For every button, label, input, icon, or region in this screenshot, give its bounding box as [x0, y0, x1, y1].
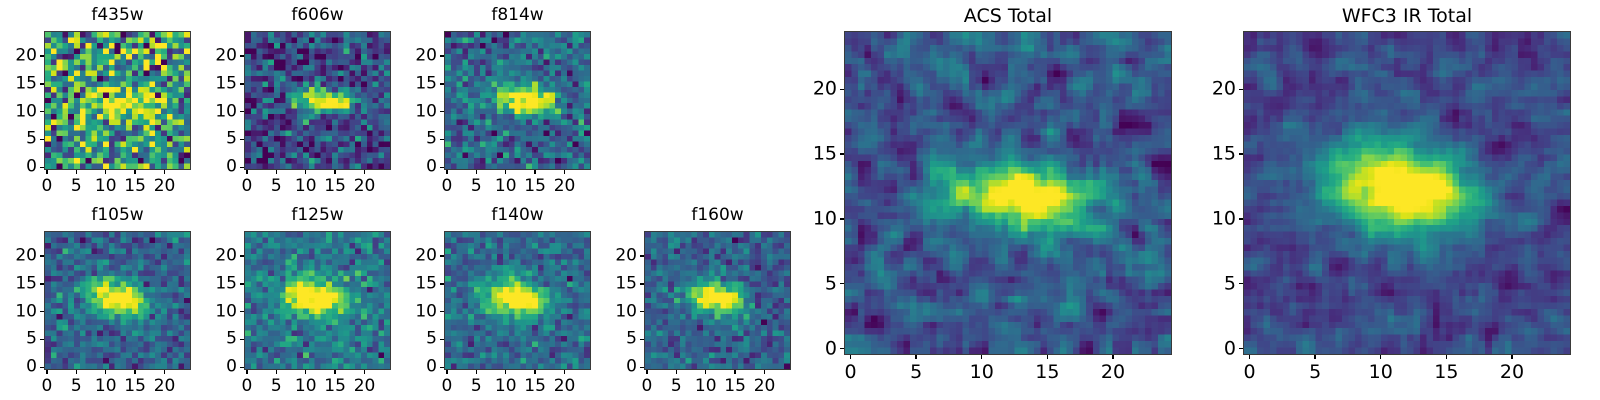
y-tick-label-f105w-10: 10: [15, 303, 37, 320]
y-tick-label-f105w-0: 0: [26, 359, 37, 376]
y-tick-label-f125w-15: 15: [215, 275, 237, 292]
y-tick-label-f814w-10: 10: [415, 103, 437, 120]
y-tick-label-f140w-15: 15: [415, 275, 437, 292]
figure-canvas: f435w0510152005101520f606w05101520051015…: [0, 0, 1600, 400]
x-tick-acs_total-5: [915, 355, 916, 359]
panel-f435w: f435w0510152005101520: [10, 5, 197, 200]
panel-acs_total: ACS Total0510152005101520: [798, 5, 1176, 385]
panel-title-acs_total: ACS Total: [844, 5, 1172, 27]
y-tick-wfc3_ir_total-10: [1239, 218, 1243, 219]
x-tick-f105w-10: [105, 370, 106, 374]
x-tick-f435w-5: [76, 170, 77, 174]
y-tick-f125w-20: [240, 255, 244, 256]
x-tick-label-f160w-15: 15: [724, 378, 746, 395]
heatmap-f140w: [444, 231, 591, 370]
x-tick-f814w-20: [564, 170, 565, 174]
x-tick-wfc3_ir_total-5: [1314, 355, 1315, 359]
y-tick-label-f814w-0: 0: [426, 159, 437, 176]
y-tick-acs_total-5: [840, 283, 844, 284]
x-tick-label-f435w-15: 15: [124, 178, 146, 195]
x-tick-label-f105w-10: 10: [95, 378, 117, 395]
x-tick-f814w-15: [534, 170, 535, 174]
x-tick-label-acs_total-15: 15: [1035, 363, 1059, 382]
x-tick-label-f814w-20: 20: [554, 178, 576, 195]
x-tick-label-f606w-20: 20: [354, 178, 376, 195]
y-tick-f125w-15: [240, 283, 244, 284]
y-tick-f435w-0: [40, 167, 44, 168]
y-tick-acs_total-15: [840, 153, 844, 154]
x-tick-label-wfc3_ir_total-5: 5: [1309, 363, 1321, 382]
y-tick-label-f160w-15: 15: [615, 275, 637, 292]
x-tick-f160w-20: [764, 370, 765, 374]
panel-title-wfc3_ir_total: WFC3 IR Total: [1243, 5, 1571, 27]
y-tick-f606w-5: [240, 139, 244, 140]
y-tick-label-wfc3_ir_total-5: 5: [1224, 274, 1236, 293]
x-tick-label-f140w-10: 10: [495, 378, 517, 395]
y-tick-f160w-5: [640, 339, 644, 340]
y-tick-f140w-10: [440, 311, 444, 312]
x-tick-label-f814w-5: 5: [471, 178, 482, 195]
y-tick-label-f435w-15: 15: [15, 75, 37, 92]
y-tick-wfc3_ir_total-0: [1239, 348, 1243, 349]
x-tick-acs_total-15: [1047, 355, 1048, 359]
heatmap-f125w: [244, 231, 391, 370]
x-tick-f105w-5: [76, 370, 77, 374]
x-tick-label-acs_total-20: 20: [1101, 363, 1125, 382]
y-tick-label-f140w-10: 10: [415, 303, 437, 320]
panel-f606w: f606w0510152005101520: [210, 5, 397, 200]
y-tick-f125w-5: [240, 339, 244, 340]
panel-f814w: f814w0510152005101520: [410, 5, 597, 200]
x-tick-f814w-10: [505, 170, 506, 174]
x-tick-label-f435w-10: 10: [95, 178, 117, 195]
y-tick-label-f125w-0: 0: [226, 359, 237, 376]
y-tick-f140w-15: [440, 283, 444, 284]
y-tick-f814w-5: [440, 139, 444, 140]
x-tick-f140w-20: [564, 370, 565, 374]
x-tick-label-f125w-0: 0: [242, 378, 253, 395]
y-tick-f125w-10: [240, 311, 244, 312]
y-tick-label-f125w-5: 5: [226, 331, 237, 348]
y-tick-label-f160w-5: 5: [626, 331, 637, 348]
y-tick-label-wfc3_ir_total-20: 20: [1212, 80, 1236, 99]
y-tick-acs_total-10: [840, 218, 844, 219]
y-tick-label-f435w-0: 0: [26, 159, 37, 176]
y-tick-f140w-20: [440, 255, 444, 256]
y-tick-label-f160w-20: 20: [615, 248, 637, 265]
x-tick-acs_total-10: [981, 355, 982, 359]
heatmap-acs_total: [844, 31, 1172, 355]
y-tick-f435w-15: [40, 83, 44, 84]
x-tick-label-f125w-10: 10: [295, 378, 317, 395]
y-tick-f160w-20: [640, 255, 644, 256]
x-tick-f105w-15: [134, 370, 135, 374]
y-tick-label-f606w-10: 10: [215, 103, 237, 120]
y-tick-label-acs_total-5: 5: [825, 274, 837, 293]
y-tick-f105w-0: [40, 367, 44, 368]
y-tick-f105w-15: [40, 283, 44, 284]
x-tick-label-acs_total-10: 10: [970, 363, 994, 382]
y-tick-f105w-20: [40, 255, 44, 256]
x-tick-f606w-15: [334, 170, 335, 174]
y-tick-wfc3_ir_total-5: [1239, 283, 1243, 284]
y-tick-label-f606w-5: 5: [226, 131, 237, 148]
y-tick-label-f125w-20: 20: [215, 248, 237, 265]
x-tick-label-wfc3_ir_total-0: 0: [1244, 363, 1256, 382]
x-tick-label-f606w-15: 15: [324, 178, 346, 195]
x-tick-f606w-20: [364, 170, 365, 174]
x-tick-label-f140w-20: 20: [554, 378, 576, 395]
x-tick-f125w-10: [305, 370, 306, 374]
y-tick-f814w-20: [440, 55, 444, 56]
x-tick-label-wfc3_ir_total-20: 20: [1500, 363, 1524, 382]
x-tick-label-f435w-20: 20: [154, 178, 176, 195]
x-tick-label-f140w-0: 0: [442, 378, 453, 395]
panel-title-f140w: f140w: [444, 205, 591, 225]
y-tick-f125w-0: [240, 367, 244, 368]
x-tick-label-acs_total-0: 0: [845, 363, 857, 382]
y-tick-label-f606w-20: 20: [215, 48, 237, 65]
x-tick-f160w-15: [734, 370, 735, 374]
y-tick-f160w-0: [640, 367, 644, 368]
x-tick-wfc3_ir_total-20: [1511, 355, 1512, 359]
x-tick-f125w-15: [334, 370, 335, 374]
x-tick-label-f160w-0: 0: [642, 378, 653, 395]
x-tick-f140w-10: [505, 370, 506, 374]
y-tick-acs_total-0: [840, 348, 844, 349]
panel-f140w: f140w0510152005101520: [410, 205, 597, 400]
panel-f105w: f105w0510152005101520: [10, 205, 197, 400]
x-tick-label-acs_total-5: 5: [910, 363, 922, 382]
y-tick-label-acs_total-0: 0: [825, 339, 837, 358]
x-tick-label-f125w-20: 20: [354, 378, 376, 395]
x-tick-f606w-5: [276, 170, 277, 174]
x-tick-label-f160w-20: 20: [754, 378, 776, 395]
x-tick-label-wfc3_ir_total-10: 10: [1369, 363, 1393, 382]
y-tick-label-wfc3_ir_total-15: 15: [1212, 145, 1236, 164]
y-tick-f606w-0: [240, 167, 244, 168]
panel-title-f814w: f814w: [444, 5, 591, 25]
y-tick-label-f814w-20: 20: [415, 48, 437, 65]
panel-wfc3_ir_total: WFC3 IR Total0510152005101520: [1197, 5, 1575, 385]
x-tick-f105w-0: [46, 370, 47, 374]
x-tick-f814w-0: [446, 170, 447, 174]
y-tick-label-f140w-5: 5: [426, 331, 437, 348]
y-tick-acs_total-20: [840, 89, 844, 90]
y-tick-label-f125w-10: 10: [215, 303, 237, 320]
y-tick-f105w-5: [40, 339, 44, 340]
y-tick-label-f435w-5: 5: [26, 131, 37, 148]
panel-title-f125w: f125w: [244, 205, 391, 225]
y-tick-f160w-15: [640, 283, 644, 284]
x-tick-wfc3_ir_total-10: [1380, 355, 1381, 359]
y-tick-f435w-10: [40, 111, 44, 112]
y-tick-label-f814w-5: 5: [426, 131, 437, 148]
x-tick-f125w-20: [364, 370, 365, 374]
y-tick-f160w-10: [640, 311, 644, 312]
x-tick-f435w-0: [46, 170, 47, 174]
y-tick-f606w-15: [240, 83, 244, 84]
x-tick-label-f814w-10: 10: [495, 178, 517, 195]
y-tick-label-f606w-0: 0: [226, 159, 237, 176]
x-tick-f606w-10: [305, 170, 306, 174]
x-tick-label-f435w-0: 0: [42, 178, 53, 195]
x-tick-label-f606w-0: 0: [242, 178, 253, 195]
x-tick-f140w-0: [446, 370, 447, 374]
x-tick-label-f435w-5: 5: [71, 178, 82, 195]
x-tick-f606w-0: [246, 170, 247, 174]
x-tick-acs_total-0: [850, 355, 851, 359]
panel-title-f105w: f105w: [44, 205, 191, 225]
x-tick-f160w-0: [646, 370, 647, 374]
y-tick-label-f105w-20: 20: [15, 248, 37, 265]
y-tick-label-f435w-20: 20: [15, 48, 37, 65]
x-tick-label-f105w-5: 5: [71, 378, 82, 395]
x-tick-f435w-15: [134, 170, 135, 174]
panel-f160w: f160w0510152005101520: [610, 205, 797, 400]
panel-title-f160w: f160w: [644, 205, 791, 225]
y-tick-label-f606w-15: 15: [215, 75, 237, 92]
x-tick-acs_total-20: [1112, 355, 1113, 359]
x-tick-label-f105w-20: 20: [154, 378, 176, 395]
y-tick-label-f140w-20: 20: [415, 248, 437, 265]
x-tick-f435w-10: [105, 170, 106, 174]
x-tick-f140w-15: [534, 370, 535, 374]
y-tick-label-wfc3_ir_total-0: 0: [1224, 339, 1236, 358]
panel-title-f606w: f606w: [244, 5, 391, 25]
y-tick-wfc3_ir_total-15: [1239, 153, 1243, 154]
heatmap-wfc3_ir_total: [1243, 31, 1571, 355]
y-tick-f435w-20: [40, 55, 44, 56]
y-tick-label-wfc3_ir_total-10: 10: [1212, 209, 1236, 228]
panel-f125w: f125w0510152005101520: [210, 205, 397, 400]
x-tick-label-f160w-5: 5: [671, 378, 682, 395]
x-tick-label-wfc3_ir_total-15: 15: [1434, 363, 1458, 382]
y-tick-label-f140w-0: 0: [426, 359, 437, 376]
y-tick-label-f435w-10: 10: [15, 103, 37, 120]
heatmap-f814w: [444, 31, 591, 170]
x-tick-label-f160w-10: 10: [695, 378, 717, 395]
y-tick-f606w-10: [240, 111, 244, 112]
y-tick-f814w-0: [440, 167, 444, 168]
x-tick-label-f814w-0: 0: [442, 178, 453, 195]
x-tick-label-f125w-15: 15: [324, 378, 346, 395]
y-tick-label-f105w-15: 15: [15, 275, 37, 292]
x-tick-label-f814w-15: 15: [524, 178, 546, 195]
y-tick-label-acs_total-15: 15: [813, 145, 837, 164]
y-tick-label-acs_total-10: 10: [813, 209, 837, 228]
x-tick-f140w-5: [476, 370, 477, 374]
x-tick-label-f125w-5: 5: [271, 378, 282, 395]
x-tick-label-f105w-15: 15: [124, 378, 146, 395]
y-tick-label-f160w-0: 0: [626, 359, 637, 376]
x-tick-label-f105w-0: 0: [42, 378, 53, 395]
y-tick-label-f105w-5: 5: [26, 331, 37, 348]
x-tick-wfc3_ir_total-15: [1446, 355, 1447, 359]
x-tick-f160w-5: [676, 370, 677, 374]
x-tick-f105w-20: [164, 370, 165, 374]
x-tick-f125w-0: [246, 370, 247, 374]
y-tick-f140w-5: [440, 339, 444, 340]
y-tick-f140w-0: [440, 367, 444, 368]
x-tick-label-f606w-10: 10: [295, 178, 317, 195]
y-tick-f814w-15: [440, 83, 444, 84]
x-tick-label-f606w-5: 5: [271, 178, 282, 195]
y-tick-label-f160w-10: 10: [615, 303, 637, 320]
y-tick-label-f814w-15: 15: [415, 75, 437, 92]
y-tick-wfc3_ir_total-20: [1239, 89, 1243, 90]
heatmap-f105w: [44, 231, 191, 370]
x-tick-f435w-20: [164, 170, 165, 174]
x-tick-f814w-5: [476, 170, 477, 174]
heatmap-f160w: [644, 231, 791, 370]
y-tick-f606w-20: [240, 55, 244, 56]
panel-title-f435w: f435w: [44, 5, 191, 25]
heatmap-f435w: [44, 31, 191, 170]
heatmap-f606w: [244, 31, 391, 170]
y-tick-f814w-10: [440, 111, 444, 112]
x-tick-label-f140w-15: 15: [524, 378, 546, 395]
x-tick-wfc3_ir_total-0: [1249, 355, 1250, 359]
y-tick-f105w-10: [40, 311, 44, 312]
x-tick-f160w-10: [705, 370, 706, 374]
x-tick-f125w-5: [276, 370, 277, 374]
y-tick-f435w-5: [40, 139, 44, 140]
y-tick-label-acs_total-20: 20: [813, 80, 837, 99]
x-tick-label-f140w-5: 5: [471, 378, 482, 395]
